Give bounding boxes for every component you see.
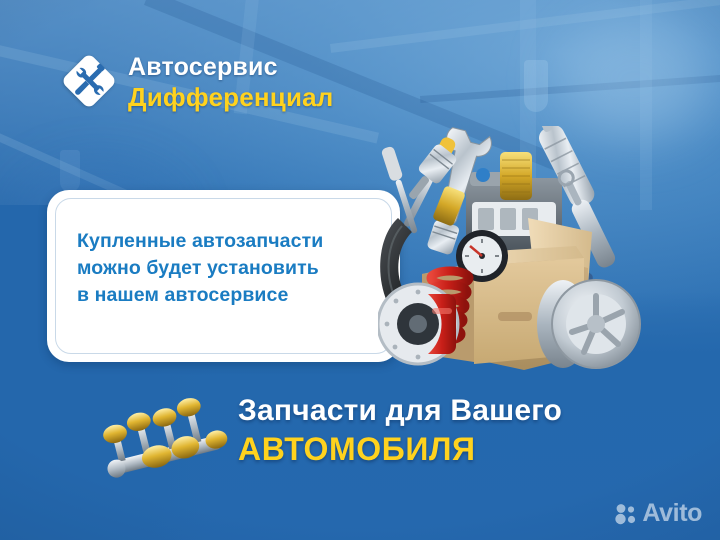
- headline-line2: АВТОМОБИЛЯ: [238, 429, 562, 469]
- piston: [426, 219, 460, 256]
- brand-name-line2: Дифференциал: [128, 82, 334, 113]
- oil-filter: [500, 152, 532, 200]
- avito-dots-icon: [615, 503, 637, 525]
- headline: Запчасти для Вашего АВТОМОБИЛЯ: [238, 392, 562, 469]
- message-line-1: Купленные автозапчасти: [77, 228, 384, 255]
- message-card: Купленные автозапчасти можно будет устан…: [47, 190, 400, 362]
- avito-brand-text: Avito: [642, 501, 702, 526]
- tools-glyph: [62, 54, 116, 108]
- brand-logo: Автосервис Дифференциал: [62, 52, 342, 122]
- message-card-text: Купленные автозапчасти можно будет устан…: [77, 228, 384, 309]
- avito-watermark: Avito: [615, 501, 702, 526]
- wrench-screwdriver-diamond-icon: [62, 54, 116, 108]
- auto-parts-illustration: [378, 126, 646, 376]
- gold-crankshaft-with-pistons: [95, 392, 235, 480]
- advertisement-banner: Автосервис Дифференциал Купленные автоза…: [0, 0, 720, 540]
- headline-line1: Запчасти для Вашего: [238, 392, 562, 429]
- message-line-3: в нашем автосервисе: [77, 282, 384, 309]
- brand-name-line1: Автосервис: [128, 52, 334, 82]
- oil-filter: [432, 185, 466, 227]
- message-line-2: можно будет установить: [77, 255, 384, 282]
- alloy-wheel-rim: [537, 280, 640, 368]
